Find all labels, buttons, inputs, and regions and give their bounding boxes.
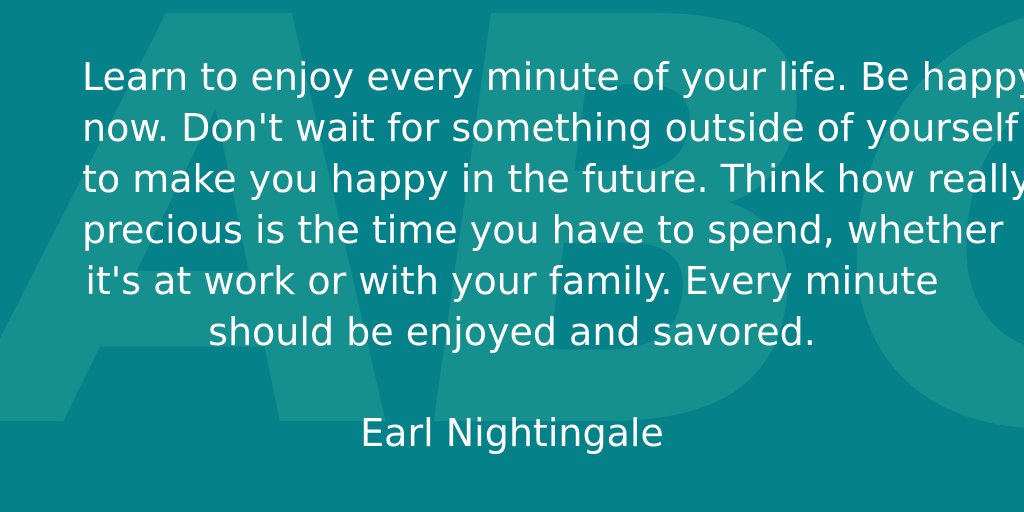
author-attribution: Earl Nightingale xyxy=(82,408,942,459)
quote-line: should be enjoyed and savored. xyxy=(82,307,942,358)
quote-text: Learn to enjoy every minute of your life… xyxy=(82,52,942,358)
quote-line: now. Don't wait for something outside of… xyxy=(82,103,942,154)
quote-line: it's at work or with your family. Every … xyxy=(82,256,942,307)
author-name: Earl Nightingale xyxy=(82,408,942,459)
quote-card-content: Learn to enjoy every minute of your life… xyxy=(0,0,1024,512)
quote-line: precious is the time you have to spend, … xyxy=(82,205,942,256)
quote-line: Learn to enjoy every minute of your life… xyxy=(82,52,942,103)
quote-card: ABC Learn to enjoy every minute of your … xyxy=(0,0,1024,512)
quote-line: to make you happy in the future. Think h… xyxy=(82,154,942,205)
